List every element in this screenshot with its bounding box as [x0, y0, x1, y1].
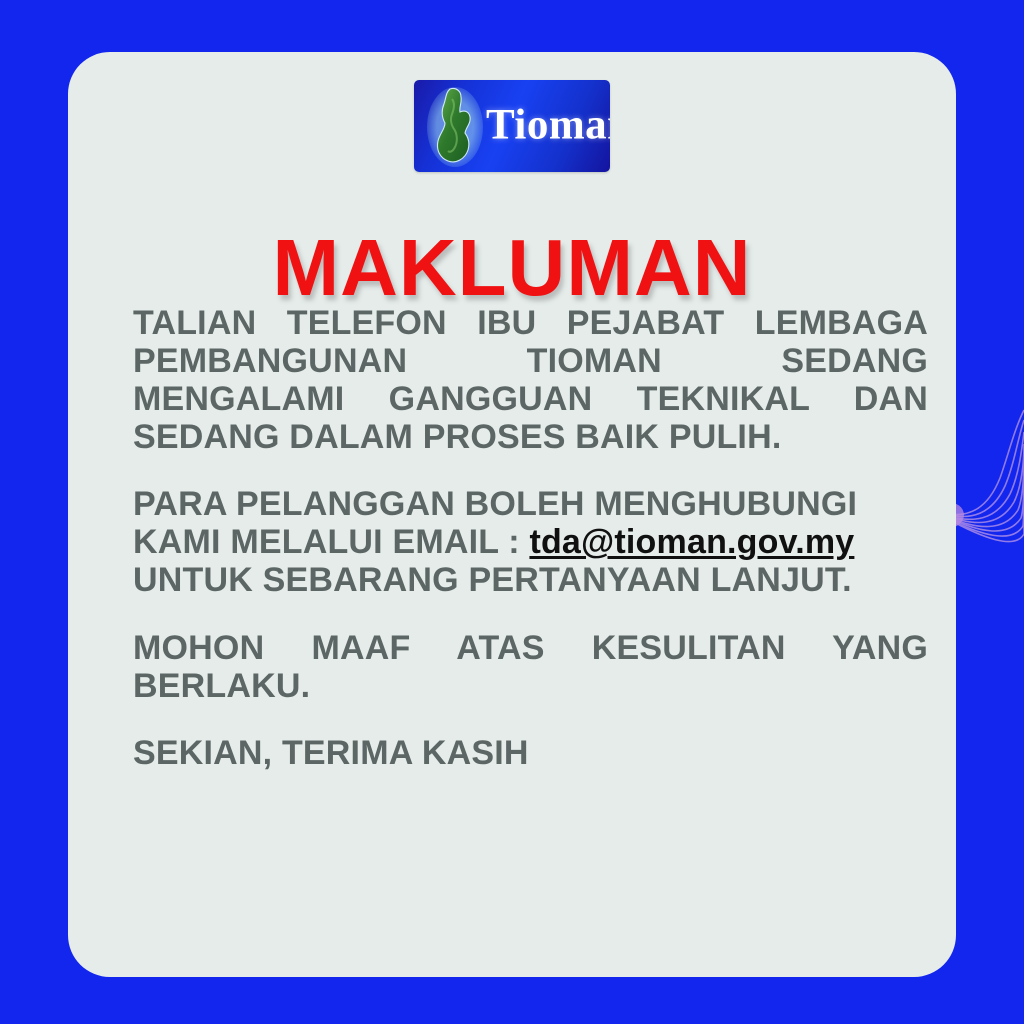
- paragraph-contact: PARA PELANGGAN BOLEH MENGHUBUNGI KAMI ME…: [133, 485, 928, 599]
- notice-body: TALIAN TELEFON IBU PEJABAT LEMBAGA PEMBA…: [133, 304, 928, 772]
- flowing-wave-decoration: [944, 390, 1024, 640]
- island-icon: [426, 85, 484, 167]
- paragraph-closing: SEKIAN, TERIMA KASIH: [133, 734, 928, 772]
- page-title: MAKLUMAN: [68, 228, 956, 308]
- contact-text-after-email: UNTUK SEBARANG PERTANYAAN LANJUT.: [133, 561, 852, 599]
- paragraph-technical-fault: TALIAN TELEFON IBU PEJABAT LEMBAGA PEMBA…: [133, 304, 928, 456]
- email-link[interactable]: tda@tioman.gov.my: [529, 523, 854, 561]
- paragraph-apology: MOHON MAAF ATAS KESULITAN YANG BERLAKU.: [133, 629, 928, 705]
- logo-container: Tioman: [68, 80, 956, 172]
- announcement-poster: Tioman MAKLUMAN TALIAN TELEFON IBU PEJAB…: [0, 0, 1024, 1024]
- tioman-logo: Tioman: [414, 80, 610, 172]
- logo-wordmark: Tioman: [486, 101, 610, 150]
- notice-card: Tioman MAKLUMAN TALIAN TELEFON IBU PEJAB…: [68, 52, 956, 977]
